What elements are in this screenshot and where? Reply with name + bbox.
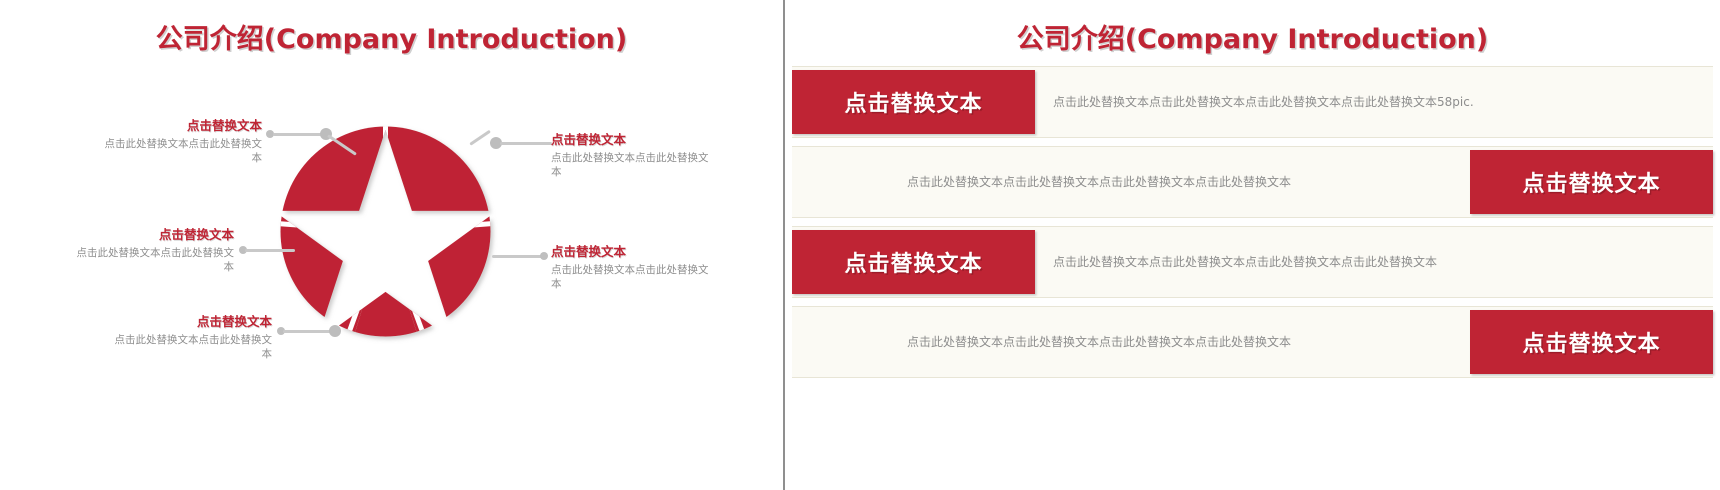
connector-dot-small bbox=[540, 252, 548, 260]
row-text-value: 点击此处替换文本点击此处替换文本点击此处替换文本点击此处替换文本 bbox=[1053, 254, 1653, 271]
connector-bar bbox=[492, 255, 542, 258]
page-title: 公司介绍(Company Introduction) bbox=[0, 17, 783, 56]
row-chip-label: 点击替换文本 bbox=[1522, 166, 1660, 198]
row-chip-label: 点击替换文本 bbox=[844, 86, 982, 118]
connector-bar bbox=[245, 249, 295, 252]
row-text-value: 点击此处替换文本点击此处替换文本点击此处替换文本点击此处替换文本 bbox=[907, 174, 1452, 191]
row-text-value: 点击此处替换文本点击此处替换文本点击此处替换文本点击此处替换文本58pic. bbox=[1053, 94, 1695, 111]
diagram-label-top-right[interactable]: 点击替换文本 点击此处替换文本点击此处替换文本 bbox=[551, 132, 713, 179]
connector-middle-left bbox=[239, 244, 295, 256]
diagram-label-heading: 点击替换文本 bbox=[72, 227, 234, 243]
row-chip[interactable]: 点击替换文本 bbox=[1470, 310, 1713, 374]
table-row[interactable]: 点击替换文本 点击此处替换文本点击此处替换文本点击此处替换文本点击此处替换文本 bbox=[792, 306, 1713, 378]
slide-right: 公司介绍(Company Introduction) 点击替换文本 点击此处替换… bbox=[785, 0, 1720, 490]
row-chip-label: 点击替换文本 bbox=[844, 246, 982, 278]
table-row[interactable]: 点击替换文本 点击此处替换文本点击此处替换文本点击此处替换文本点击此处替换文本5… bbox=[792, 66, 1713, 138]
star-circle-graphic bbox=[278, 124, 493, 339]
diagram-label-heading: 点击替换文本 bbox=[551, 244, 713, 260]
diagram-label-body: 点击此处替换文本点击此处替换文本 bbox=[72, 246, 234, 274]
diagram-label-top-left[interactable]: 点击替换文本 点击此处替换文本点击此处替换文本 bbox=[100, 118, 262, 165]
diagram-label-heading: 点击替换文本 bbox=[110, 314, 272, 330]
row-text: 点击此处替换文本点击此处替换文本点击此处替换文本点击此处替换文本 bbox=[792, 307, 1470, 377]
row-text: 点击此处替换文本点击此处替换文本点击此处替换文本点击此处替换文本 bbox=[792, 147, 1470, 217]
page-title: 公司介绍(Company Introduction) bbox=[785, 17, 1720, 56]
connector-bar bbox=[273, 133, 325, 136]
connector-bottom-left bbox=[277, 325, 349, 337]
diagram-label-body: 点击此处替换文本点击此处替换文本 bbox=[551, 151, 713, 179]
diagram-label-bottom-left[interactable]: 点击替换文本 点击此处替换文本点击此处替换文本 bbox=[110, 314, 272, 361]
row-text-value: 点击此处替换文本点击此处替换文本点击此处替换文本点击此处替换文本 bbox=[907, 334, 1452, 351]
diagram-label-middle-right[interactable]: 点击替换文本 点击此处替换文本点击此处替换文本 bbox=[551, 244, 713, 291]
table-row[interactable]: 点击替换文本 点击此处替换文本点击此处替换文本点击此处替换文本点击此处替换文本 bbox=[792, 146, 1713, 218]
diagram-label-heading: 点击替换文本 bbox=[100, 118, 262, 134]
row-chip[interactable]: 点击替换文本 bbox=[1470, 150, 1713, 214]
row-text: 点击此处替换文本点击此处替换文本点击此处替换文本点击此处替换文本58pic. bbox=[1035, 67, 1713, 137]
connector-bar bbox=[500, 142, 552, 145]
diagram-label-heading: 点击替换文本 bbox=[551, 132, 713, 148]
row-chip[interactable]: 点击替换文本 bbox=[792, 230, 1035, 294]
connector-bar bbox=[283, 330, 333, 333]
table-row[interactable]: 点击替换文本 点击此处替换文本点击此处替换文本点击此处替换文本点击此处替换文本 bbox=[792, 226, 1713, 298]
slide-deck: 公司介绍(Company Introduction) bbox=[0, 0, 1720, 490]
row-chip-label: 点击替换文本 bbox=[1522, 326, 1660, 358]
connector-top-right bbox=[470, 137, 552, 149]
row-text: 点击此处替换文本点击此处替换文本点击此处替换文本点击此处替换文本 bbox=[1035, 227, 1713, 297]
connector-top-left bbox=[266, 128, 332, 140]
diagram-label-body: 点击此处替换文本点击此处替换文本 bbox=[551, 263, 713, 291]
connector-dot-large bbox=[329, 325, 341, 337]
diagram-label-body: 点击此处替换文本点击此处替换文本 bbox=[110, 333, 272, 361]
connector-middle-right bbox=[492, 250, 548, 262]
diagram-label-body: 点击此处替换文本点击此处替换文本 bbox=[100, 137, 262, 165]
star-icon bbox=[278, 124, 493, 339]
content-row-list: 点击替换文本 点击此处替换文本点击此处替换文本点击此处替换文本点击此处替换文本5… bbox=[792, 66, 1713, 386]
slide-left: 公司介绍(Company Introduction) bbox=[0, 0, 783, 490]
diagram-label-middle-left[interactable]: 点击替换文本 点击此处替换文本点击此处替换文本 bbox=[72, 227, 234, 274]
row-chip[interactable]: 点击替换文本 bbox=[792, 70, 1035, 134]
